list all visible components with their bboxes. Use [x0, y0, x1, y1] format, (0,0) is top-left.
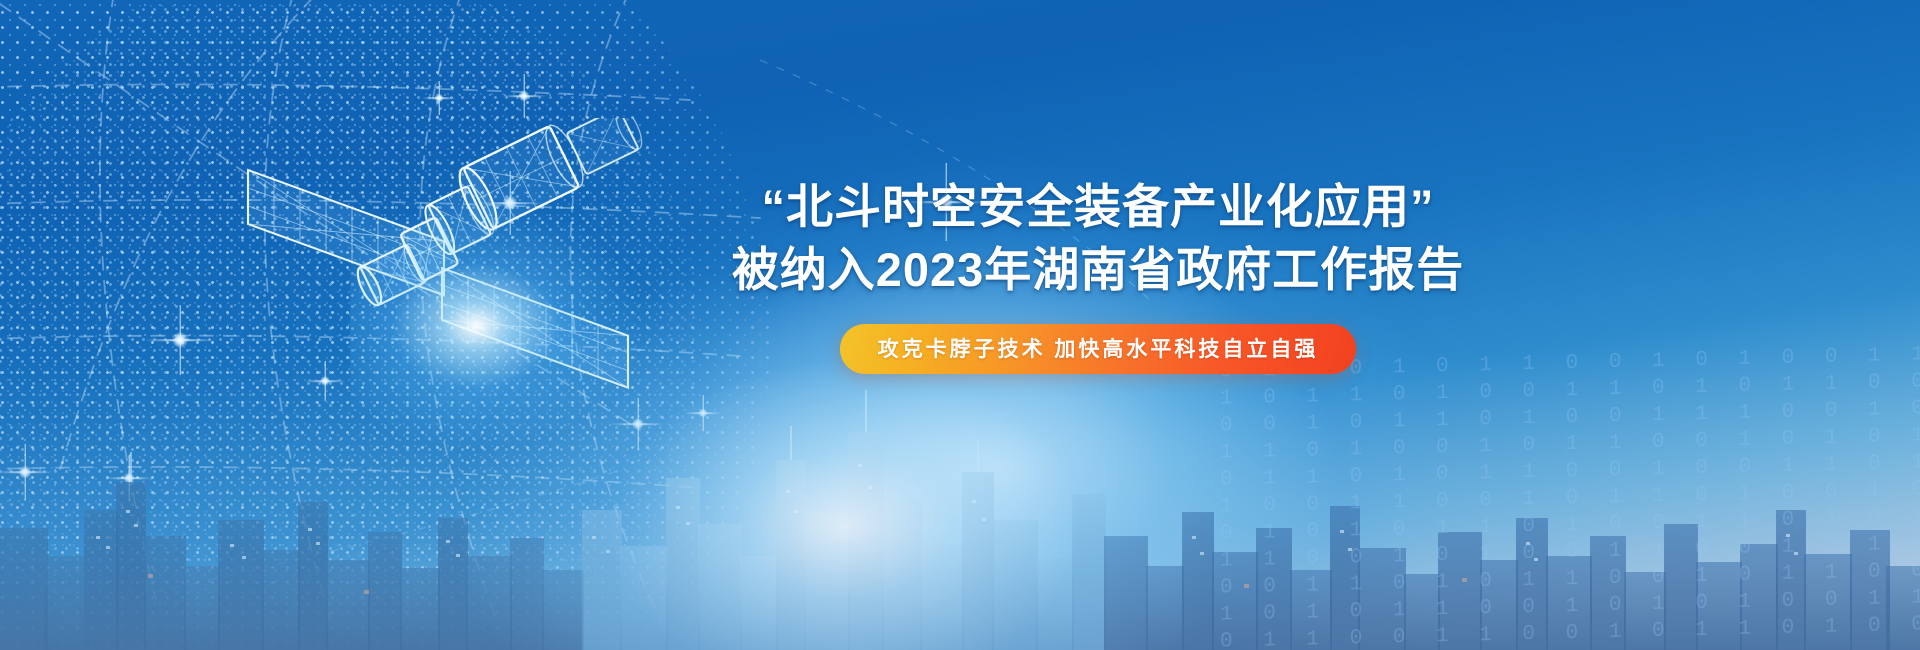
slogan-badge: 攻克卡脖子技术 加快高水平科技自立自强	[840, 324, 1357, 374]
headline-block: “北斗时空安全装备产业化应用” 被纳入2023年湖南省政府工作报告 攻克卡脖子技…	[648, 176, 1548, 374]
badge-container: 攻克卡脖子技术 加快高水平科技自立自强	[648, 324, 1548, 374]
hero-banner: 0 1 0 0 1 0 1 1 0 0 1 0 1 0 0 1 1 0 1 0 …	[0, 0, 1920, 650]
headline-line-1: “北斗时空安全装备产业化应用”	[648, 176, 1548, 238]
headline-line-2: 被纳入2023年湖南省政府工作报告	[648, 238, 1548, 302]
city-skyline-graphic	[0, 360, 1920, 650]
satellite-graphic	[232, 118, 652, 398]
